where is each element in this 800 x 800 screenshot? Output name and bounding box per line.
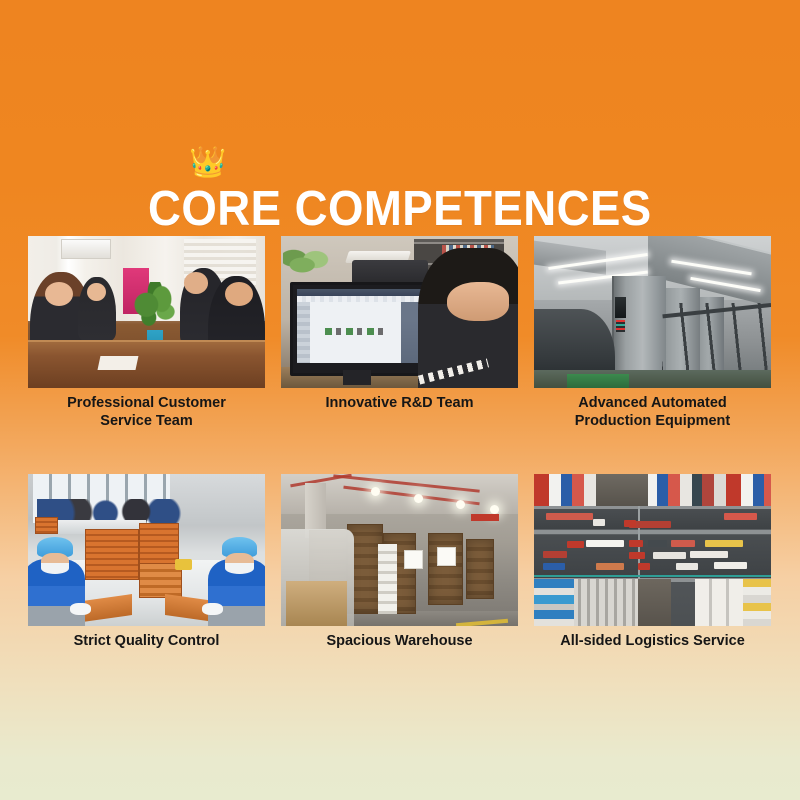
truck-cab	[567, 541, 584, 548]
worker-figure	[208, 535, 265, 626]
app-left-panel	[297, 302, 309, 363]
paper-document	[98, 356, 139, 370]
teal-line	[534, 575, 771, 577]
tape-roll	[175, 559, 192, 570]
photo-aerial-logistics	[534, 474, 771, 626]
truck-cab	[624, 520, 636, 527]
ceiling-light	[414, 494, 423, 503]
truck-icon	[705, 540, 743, 547]
truck-icon	[543, 563, 564, 570]
pallet-tag	[404, 550, 423, 569]
truck-icon	[546, 513, 593, 520]
truck-icon	[596, 563, 624, 570]
container-stack	[534, 579, 574, 626]
photo-quality-inspection	[28, 474, 265, 626]
card-caption: Strict Quality Control	[28, 633, 265, 651]
photo-meeting-room	[28, 236, 265, 388]
pallet-stack	[428, 533, 463, 605]
truck-cab	[638, 563, 650, 570]
box-stack	[35, 517, 58, 534]
monitor-icon	[290, 282, 429, 376]
card-caption: Innovative R&D Team	[281, 395, 518, 413]
competence-card: Spacious Warehouse	[281, 474, 518, 651]
competence-card: All-sided Logistics Service	[534, 474, 771, 651]
box-stack	[85, 529, 139, 580]
carton-stack	[286, 581, 348, 627]
ceiling-light	[371, 487, 380, 496]
card-caption: Spacious Warehouse	[281, 633, 518, 651]
person-face	[447, 282, 509, 322]
photo-designer-at-monitor	[281, 236, 518, 388]
container-yard-top	[534, 474, 771, 506]
card-caption: Advanced Automated Production Equipment	[534, 395, 771, 430]
core-competences-banner: 👑 CORE COMPETENCES	[0, 0, 800, 800]
photo-printing-press	[534, 236, 771, 388]
worker-figure	[28, 535, 85, 626]
crown-icon: 👑	[189, 148, 226, 178]
truck-icon	[714, 562, 747, 569]
control-panel	[615, 297, 627, 318]
person-face	[45, 282, 73, 306]
wall-banner	[471, 514, 499, 522]
truck-icon	[543, 551, 567, 558]
platform-step	[567, 374, 629, 388]
loading-yard	[596, 474, 648, 506]
control-buttons	[616, 320, 625, 332]
truck-cab	[629, 540, 643, 547]
competence-card: Strict Quality Control	[28, 474, 265, 651]
plant-icon	[283, 248, 330, 281]
road-curb	[534, 530, 771, 534]
canvas-artwork	[325, 328, 387, 335]
pallet-tag	[437, 547, 456, 566]
truck-icon	[724, 513, 757, 520]
competence-card: Professional Customer Service Team	[28, 236, 265, 430]
page-title: CORE COMPETENCES	[148, 185, 652, 234]
box-stack	[139, 523, 179, 565]
truck-icon	[676, 563, 697, 570]
air-conditioner	[61, 239, 110, 259]
truck-cab	[629, 552, 646, 559]
worker-glove	[202, 603, 223, 616]
screen	[297, 289, 422, 363]
app-titlebar	[297, 289, 422, 296]
worker-glove	[70, 603, 91, 616]
pallet-stack	[466, 539, 494, 599]
parking-lot	[638, 579, 671, 626]
person-face	[184, 272, 208, 293]
competence-card: Innovative R&D Team	[281, 236, 518, 430]
conference-table	[28, 340, 265, 388]
warehouse-roof	[572, 579, 638, 626]
car-icon	[593, 519, 605, 526]
card-caption: Professional Customer Service Team	[28, 395, 265, 430]
label-column	[378, 544, 397, 614]
ceiling-light	[490, 505, 499, 514]
truck-icon	[690, 551, 728, 558]
container-stack	[743, 579, 771, 626]
truck-icon	[671, 540, 695, 547]
competences-grid: Professional Customer Service Team	[28, 236, 772, 651]
monitor-stand	[343, 370, 371, 385]
photo-warehouse-pallets	[281, 474, 518, 626]
truck-icon	[648, 540, 667, 547]
truck-icon	[586, 540, 624, 547]
competence-card: Advanced Automated Production Equipment	[534, 236, 771, 430]
person-face	[225, 282, 253, 306]
card-caption: All-sided Logistics Service	[534, 633, 771, 651]
truck-icon	[653, 552, 686, 559]
